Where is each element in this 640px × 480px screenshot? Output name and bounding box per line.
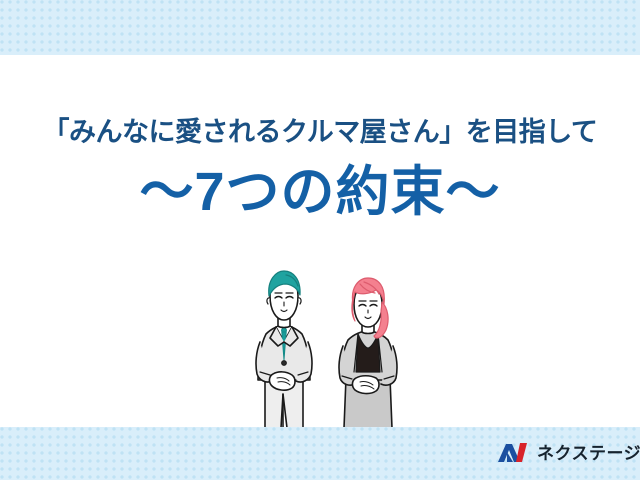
headline-line-2: 〜7つの約束〜 xyxy=(0,156,640,228)
nextage-n-mark xyxy=(496,441,530,465)
headline-line-1: 「みんなに愛されるクルマ屋さん」を目指して xyxy=(0,112,640,152)
brand-logo-text: ネクステージ xyxy=(537,445,640,462)
man-figure xyxy=(256,271,312,428)
staff-illustration xyxy=(236,268,426,433)
slide-canvas: 「みんなに愛されるクルマ屋さん」を目指して 〜7つの約束〜 xyxy=(0,0,640,480)
brand-logo: ネクステージ xyxy=(496,441,640,465)
top-dot-band xyxy=(0,0,640,55)
headline-block: 「みんなに愛されるクルマ屋さん」を目指して 〜7つの約束〜 xyxy=(0,112,640,228)
woman-figure xyxy=(339,278,397,428)
